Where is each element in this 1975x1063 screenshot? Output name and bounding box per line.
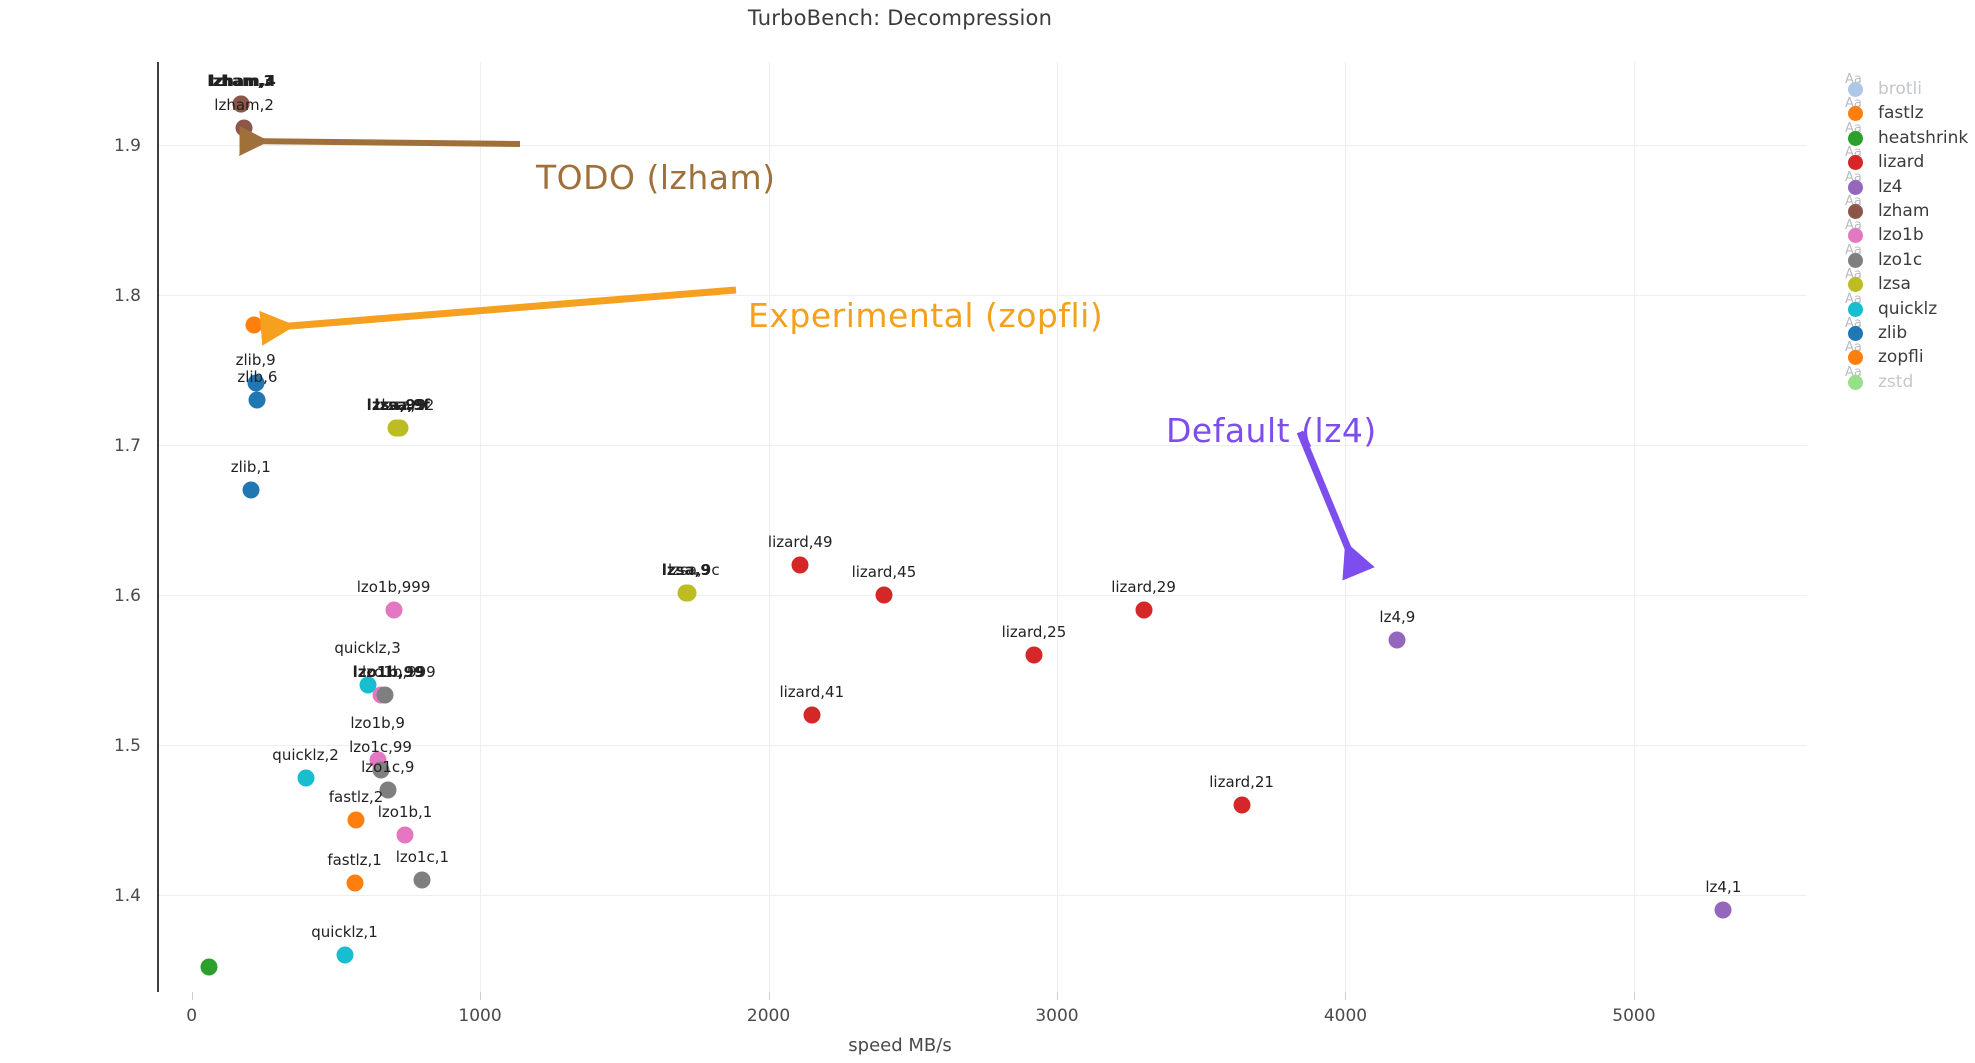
scatter-point[interactable] (249, 391, 266, 408)
legend-label: lizard (1878, 152, 1924, 172)
scatter-point-label: lzo1b,999 (362, 663, 436, 681)
legend-color-swatch (1848, 228, 1863, 243)
x-tick-label: 4000 (1300, 1006, 1390, 1026)
scatter-point-label: lz4,1 (1705, 878, 1741, 896)
scatter-point[interactable] (242, 481, 259, 498)
x-tick-mark (769, 992, 770, 1000)
scatter-point[interactable] (803, 706, 820, 723)
y-tick-label: 1.6 (61, 586, 141, 606)
plot-area: lzham,3lzham,4lzham,2zlib,9zlib,6lzsa,99… (157, 62, 1807, 992)
annotation-text: Experimental (zopfli) (748, 296, 1103, 335)
scatter-point-label: lzo1c,99 (349, 738, 412, 756)
scatter-point-label: zlib,6 (237, 368, 277, 386)
legend-item-lzham[interactable]: Aalzham (1845, 200, 1975, 224)
scatter-point-label: quicklz,1 (311, 923, 377, 941)
x-tick-mark (1057, 992, 1058, 1000)
gridline-vertical (769, 62, 770, 992)
scatter-point[interactable] (391, 420, 408, 437)
y-tick-label: 1.9 (61, 136, 141, 156)
scatter-point-label: lzsa,12 (381, 396, 434, 414)
scatter-point[interactable] (336, 946, 353, 963)
scatter-point-label: lizard,49 (768, 533, 833, 551)
legend-color-swatch (1848, 326, 1863, 341)
legend-label: lzham (1878, 201, 1929, 221)
x-tick-mark (1345, 992, 1346, 1000)
scatter-point-label: zlib,1 (231, 458, 271, 476)
scatter-point[interactable] (792, 556, 809, 573)
y-tick-label: 1.7 (61, 436, 141, 456)
legend-label: brotli (1878, 79, 1922, 99)
x-tick-label: 1000 (435, 1006, 525, 1026)
legend-color-swatch (1848, 131, 1863, 146)
scatter-point[interactable] (236, 120, 253, 137)
gridline-vertical (1345, 62, 1346, 992)
scatter-point[interactable] (200, 958, 217, 975)
y-tick-label: 1.5 (61, 736, 141, 756)
scatter-point[interactable] (245, 316, 262, 333)
legend-label: lz4 (1878, 177, 1902, 197)
legend-item-heatshrink[interactable]: Aaheatshrink (1845, 127, 1975, 151)
scatter-point-label: lizard,21 (1209, 773, 1274, 791)
scatter-point-label: lizard,25 (1002, 623, 1067, 641)
scatter-point[interactable] (346, 874, 363, 891)
legend-item-lzo1c[interactable]: Aalzo1c (1845, 249, 1975, 273)
legend-item-brotli[interactable]: Aabrotli (1845, 78, 1975, 102)
legend-color-swatch (1848, 180, 1863, 195)
legend-item-lz4[interactable]: Aalz4 (1845, 176, 1975, 200)
gridline-horizontal (157, 895, 1807, 896)
legend-item-zstd[interactable]: Aazstd (1845, 371, 1975, 395)
x-tick-mark (1634, 992, 1635, 1000)
scatter-point[interactable] (385, 601, 402, 618)
scatter-point[interactable] (1233, 796, 1250, 813)
legend-label: quicklz (1878, 299, 1937, 319)
legend-color-swatch (1848, 204, 1863, 219)
scatter-point-label: lizard,45 (852, 563, 917, 581)
legend-item-lzo1b[interactable]: Aalzo1b (1845, 224, 1975, 248)
scatter-point-label: lzham,2 (214, 96, 274, 114)
scatter-point-label: lzo1c,1 (396, 848, 449, 866)
scatter-point-label: fastlz,2 (329, 788, 384, 806)
scatter-point[interactable] (297, 769, 314, 786)
gridline-vertical (1057, 62, 1058, 992)
gridline-horizontal (157, 145, 1807, 146)
x-tick-label: 0 (147, 1006, 237, 1026)
scatter-point-label: quicklz,3 (334, 639, 400, 657)
legend-color-swatch (1848, 155, 1863, 170)
legend-label: fastlz (1878, 103, 1924, 123)
scatter-point-label: lizard,41 (779, 683, 844, 701)
legend-item-zopfli[interactable]: Aazopfli (1845, 346, 1975, 370)
y-tick-label: 1.8 (61, 286, 141, 306)
legend-label: zopfli (1878, 347, 1924, 367)
x-tick-label: 5000 (1589, 1006, 1679, 1026)
scatter-point-label: lzo1b,9 (350, 714, 405, 732)
legend-label: lzsa (1878, 274, 1911, 294)
scatter-point[interactable] (1389, 631, 1406, 648)
legend-item-quicklz[interactable]: Aaquicklz (1845, 298, 1975, 322)
scatter-point-label: lzo1b,1 (378, 803, 433, 821)
scatter-point[interactable] (1135, 601, 1152, 618)
scatter-point-label: quicklz,2 (272, 746, 338, 764)
legend-color-swatch (1848, 106, 1863, 121)
legend-color-swatch (1848, 302, 1863, 317)
legend-color-swatch (1848, 350, 1863, 365)
legend-item-lizard[interactable]: Aalizard (1845, 151, 1975, 175)
legend-label: lzo1b (1878, 225, 1924, 245)
legend-label: zstd (1878, 372, 1913, 392)
gridline-vertical (480, 62, 481, 992)
scatter-point-label: lzo1c,9 (361, 758, 414, 776)
annotation-text: Default (lz4) (1166, 411, 1377, 450)
scatter-point-label: lizard,29 (1111, 578, 1176, 596)
scatter-point-label: lz4,9 (1379, 608, 1415, 626)
y-axis-line (157, 62, 159, 992)
scatter-point-label: lzsa,9c (668, 561, 720, 579)
legend-label: heatshrink (1878, 128, 1968, 148)
legend-label: zlib (1878, 323, 1907, 343)
y-tick-label: 1.4 (61, 886, 141, 906)
legend-label: lzo1c (1878, 250, 1922, 270)
gridline-vertical (1634, 62, 1635, 992)
scatter-point[interactable] (1025, 646, 1042, 663)
scatter-point[interactable] (397, 826, 414, 843)
annotation-text: TODO (lzham) (536, 158, 776, 197)
legend-color-swatch (1848, 253, 1863, 268)
legend-color-swatch (1848, 82, 1863, 97)
x-tick-mark (192, 992, 193, 1000)
legend-item-fastlz[interactable]: Aafastlz (1845, 102, 1975, 126)
turbobench-scatter-figure: TurboBench: Decompression lzham,3lzham,4… (0, 0, 1975, 1063)
legend-color-swatch (1848, 277, 1863, 292)
legend-color-swatch (1848, 375, 1863, 390)
scatter-point[interactable] (414, 871, 431, 888)
x-tick-label: 2000 (724, 1006, 814, 1026)
scatter-point[interactable] (679, 585, 696, 602)
scatter-point-label: lzham,4 (209, 72, 275, 90)
x-axis-label: speed MB/s (0, 1035, 1800, 1056)
scatter-point-label: zlib,9 (236, 351, 276, 369)
scatter-point[interactable] (348, 811, 365, 828)
x-tick-label: 3000 (1012, 1006, 1102, 1026)
gridline-horizontal (157, 445, 1807, 446)
legend-item-zlib[interactable]: Aazlib (1845, 322, 1975, 346)
scatter-point[interactable] (1715, 901, 1732, 918)
scatter-point-label: fastlz,1 (327, 851, 382, 869)
scatter-point[interactable] (376, 687, 393, 704)
legend: AabrotliAafastlzAaheatshrinkAalizardAalz… (1845, 78, 1975, 395)
scatter-point-label: lzo1b,999 (357, 578, 431, 596)
page-title: TurboBench: Decompression (0, 6, 1800, 30)
scatter-point[interactable] (875, 586, 892, 603)
x-tick-mark (480, 992, 481, 1000)
legend-item-lzsa[interactable]: Aalzsa (1845, 273, 1975, 297)
